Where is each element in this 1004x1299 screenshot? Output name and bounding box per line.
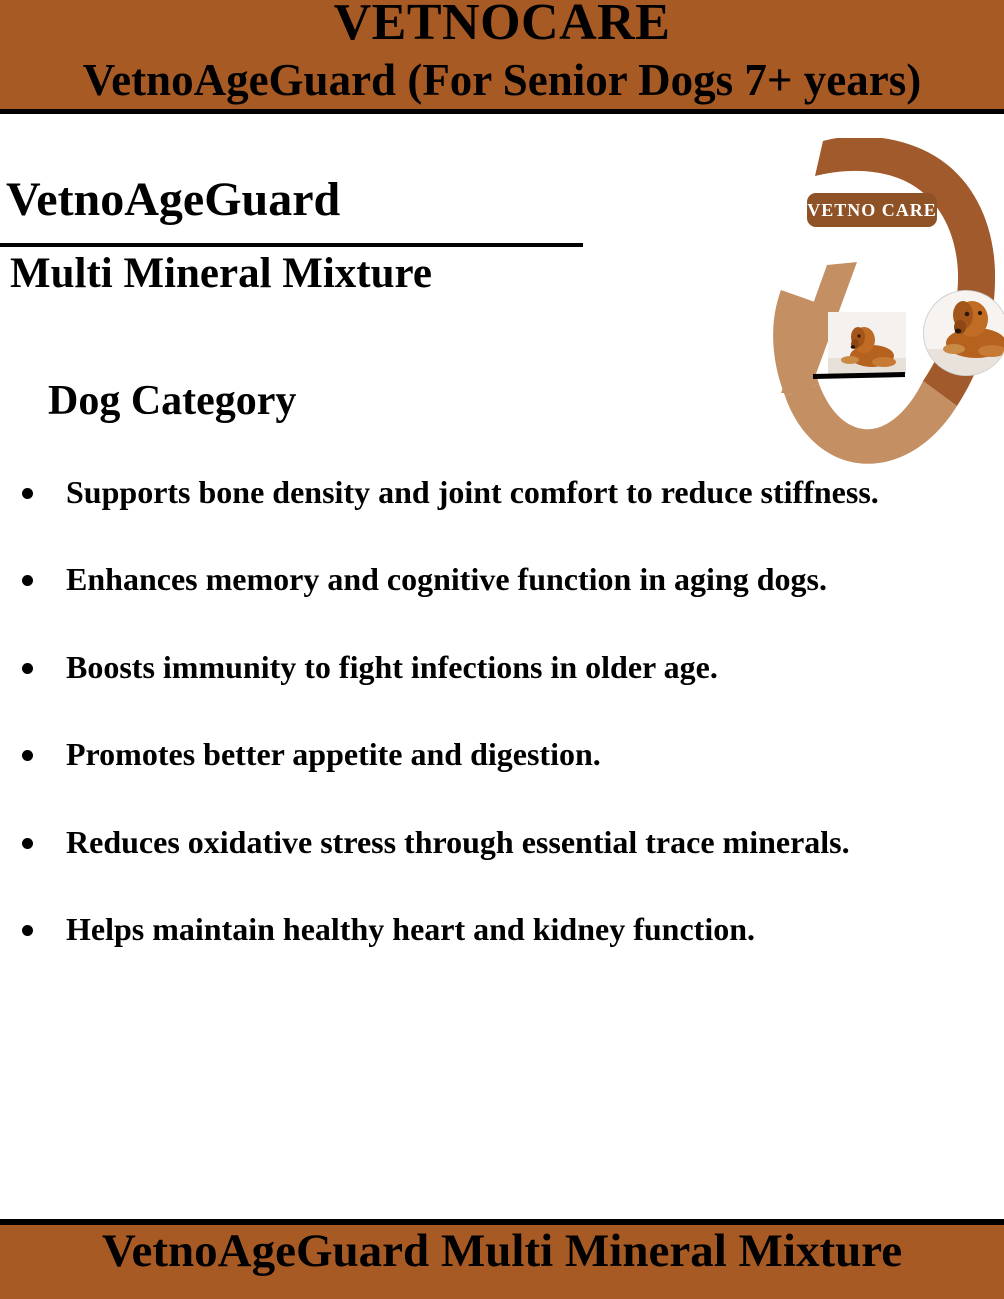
category-label: Dog Category [48,380,296,422]
logo-badge-text: VETNO CARE [807,200,937,221]
list-item-text: Enhances memory and cognitive function i… [66,561,827,597]
list-item: Reduces oxidative stress through essenti… [0,820,1004,865]
brand-subtitle: VetnoAgeGuard (For Senior Dogs 7+ years) [0,57,1004,104]
dog-image-icon [828,312,906,374]
bullet-dot-icon [22,575,33,586]
product-subname: Multi Mineral Mixture [10,252,432,295]
bottom-banner: VetnoAgeGuard Multi Mineral Mixture [0,1219,1004,1299]
dog-image-circle-icon [924,291,1004,375]
bullet-dot-icon [22,838,33,849]
list-item-text: Boosts immunity to fight infections in o… [66,649,718,685]
benefits-list: Supports bone density and joint comfort … [0,470,1004,995]
list-item: Boosts immunity to fight infections in o… [0,645,1004,690]
product-name: VetnoAgeGuard [6,176,340,224]
list-item: Supports bone density and joint comfort … [0,470,1004,515]
list-item: Helps maintain healthy heart and kidney … [0,907,1004,952]
vetno-care-logo: VETNO CARE [745,138,1004,468]
list-item-text: Reduces oxidative stress through essenti… [66,824,850,860]
list-item-text: Promotes better appetite and digestion. [66,736,601,772]
brand-title: VETNOCARE [0,0,1004,51]
bullet-dot-icon [22,663,33,674]
dog-photo-circle [923,290,1004,376]
list-item-text: Supports bone density and joint comfort … [66,474,879,510]
bullet-dot-icon [22,750,33,761]
bottom-banner-text: VetnoAgeGuard Multi Mineral Mixture [0,1227,1004,1276]
logo-swoosh-lower [785,381,957,464]
list-item-text: Helps maintain healthy heart and kidney … [66,911,755,947]
top-banner: VETNOCARE VetnoAgeGuard (For Senior Dogs… [0,0,1004,114]
bullet-dot-icon [22,925,33,936]
list-item: Promotes better appetite and digestion. [0,732,1004,777]
list-item: Enhances memory and cognitive function i… [0,557,1004,602]
dog-photo-rect [828,312,906,374]
bullet-dot-icon [22,488,33,499]
title-underline-rule [0,243,583,247]
logo-badge: VETNO CARE [807,193,937,227]
